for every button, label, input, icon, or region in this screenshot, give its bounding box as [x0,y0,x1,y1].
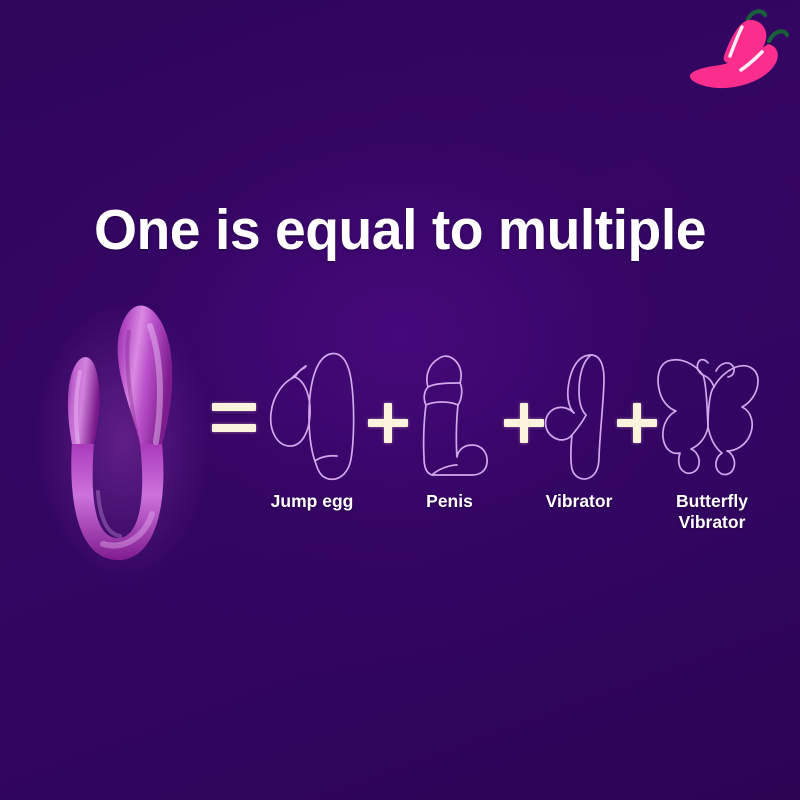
plus-bar-vertical [633,403,641,443]
equation-item-jump-egg: Jump egg [252,345,372,512]
equation-item-vibrator: Vibrator [529,345,629,512]
equation-item-label: Vibrator [529,491,629,512]
equation-item-butterfly-vibrator: Butterfly Vibrator [642,345,782,533]
equals-bar-top [212,403,256,411]
page-title: One is equal to multiple [12,198,788,262]
equation-item-label: Butterfly Vibrator [642,491,782,533]
equation-item-label: Penis [397,491,502,512]
jump-egg-icon [252,345,372,485]
rabbit-vibrator-icon [529,345,629,485]
equals-bar-bottom [212,424,256,432]
equation-item-label: Jump egg [252,491,372,512]
plus-bar-vertical [384,403,392,443]
equation-item-penis: Penis [397,345,502,512]
poster-canvas: One is equal to multiple [0,0,800,800]
butterfly-vibrator-icon [642,345,782,485]
equation-row: Jump egg Penis [212,345,792,545]
plus-bar-vertical [520,403,528,443]
hero-product-image [28,292,218,582]
penis-icon [397,345,502,485]
chili-pepper-logo [686,6,790,100]
